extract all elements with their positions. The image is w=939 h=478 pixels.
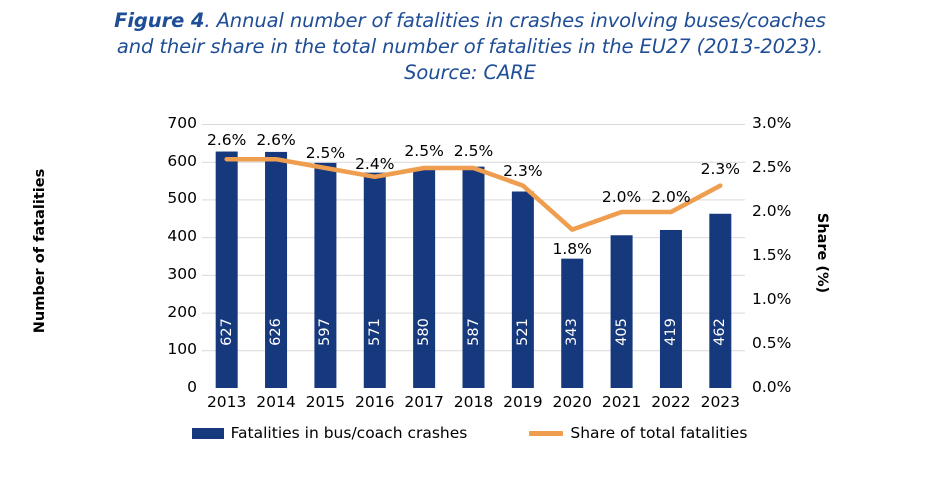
bar-value-label: 419 <box>663 318 679 346</box>
chart-legend: Fatalities in bus/coach crashes Share of… <box>0 424 939 442</box>
bar-value-label: 521 <box>515 318 531 346</box>
share-value-label: 2.6% <box>207 131 246 149</box>
x-axis-tick-label: 2015 <box>306 393 345 411</box>
chart-canvas: Number of fatalities Share (%) 010020030… <box>0 95 939 415</box>
share-value-label: 2.4% <box>355 155 394 173</box>
y-axis-title-right: Share (%) <box>814 153 830 353</box>
y-axis-left-tick-label: 400 <box>167 227 197 245</box>
y-axis-right-tick-label: 2.5% <box>752 158 791 176</box>
x-axis-tick-label: 2022 <box>651 393 690 411</box>
bar-value-label: 627 <box>219 318 235 346</box>
share-value-label: 2.5% <box>454 142 493 160</box>
figure-title-text: . Annual number of fatalities in crashes… <box>117 9 826 84</box>
bar[interactable] <box>709 214 731 388</box>
bar-value-label: 462 <box>712 318 728 346</box>
legend-line-label: Share of total fatalities <box>570 424 747 442</box>
x-axis-tick-label: 2017 <box>404 393 443 411</box>
bar[interactable] <box>611 235 633 388</box>
bar-value-label: 597 <box>317 318 333 346</box>
bar[interactable] <box>660 230 682 388</box>
bar-value-label: 343 <box>564 318 580 346</box>
y-axis-right-tick-label: 0.0% <box>752 378 791 396</box>
bar-value-label: 587 <box>466 318 482 346</box>
x-axis-tick-label: 2013 <box>207 393 246 411</box>
x-axis-tick-label: 2020 <box>552 393 591 411</box>
legend-item-bars[interactable]: Fatalities in bus/coach crashes <box>192 424 468 442</box>
x-axis-tick-label: 2023 <box>701 393 740 411</box>
y-axis-left-tick-label: 200 <box>167 303 197 321</box>
figure-title: Figure 4. Annual number of fatalities in… <box>110 8 830 86</box>
legend-item-line[interactable]: Share of total fatalities <box>529 424 747 442</box>
share-value-label: 1.8% <box>553 240 592 258</box>
share-value-label: 2.3% <box>701 160 740 178</box>
x-axis-tick-label: 2021 <box>602 393 641 411</box>
y-axis-left-tick-label: 0 <box>187 378 197 396</box>
bar-value-label: 580 <box>416 318 432 346</box>
share-value-label: 2.0% <box>602 188 641 206</box>
y-axis-right-tick-label: 1.0% <box>752 290 791 308</box>
x-axis-tick-label: 2019 <box>503 393 542 411</box>
x-axis-tick-label: 2018 <box>454 393 493 411</box>
bar-value-label: 626 <box>268 318 284 346</box>
bar[interactable] <box>265 152 287 388</box>
bar[interactable] <box>364 173 386 388</box>
legend-line-swatch-icon <box>529 431 563 436</box>
legend-bar-swatch-icon <box>192 428 224 439</box>
bar[interactable] <box>463 167 485 388</box>
bar[interactable] <box>512 192 534 388</box>
x-axis-tick-label: 2016 <box>355 393 394 411</box>
share-value-label: 2.5% <box>306 144 345 162</box>
y-axis-title-left: Number of fatalities <box>32 141 48 361</box>
chart-svg <box>202 124 745 388</box>
y-axis-right-tick-label: 3.0% <box>752 114 791 132</box>
y-axis-right-tick-label: 1.5% <box>752 246 791 264</box>
x-axis-tick-label: 2014 <box>256 393 295 411</box>
y-axis-left-tick-label: 600 <box>167 152 197 170</box>
legend-bar-label: Fatalities in bus/coach crashes <box>231 424 468 442</box>
bar[interactable] <box>216 152 238 388</box>
bar-value-label: 571 <box>367 318 383 346</box>
plot-area: 6276265975715805875213434054194622.6%2.6… <box>202 124 745 388</box>
bar-value-label: 405 <box>614 318 630 346</box>
y-axis-left-tick-label: 300 <box>167 265 197 283</box>
y-axis-right-tick-label: 2.0% <box>752 202 791 220</box>
y-axis-left-tick-label: 500 <box>167 189 197 207</box>
y-axis-left-tick-label: 100 <box>167 340 197 358</box>
share-value-label: 2.3% <box>503 162 542 180</box>
share-value-label: 2.6% <box>256 131 295 149</box>
bar[interactable] <box>413 169 435 388</box>
x-axis-ticks: 2013201420152016201720182019202020212022… <box>202 393 745 419</box>
bar[interactable] <box>314 163 336 388</box>
y-axis-left-ticks: 0100200300400500600700 <box>155 95 197 415</box>
y-axis-right-tick-label: 0.5% <box>752 334 791 352</box>
y-axis-right-ticks: 0.0%0.5%1.0%1.5%2.0%2.5%3.0% <box>752 95 812 415</box>
share-value-label: 2.0% <box>651 188 690 206</box>
share-value-label: 2.5% <box>404 142 443 160</box>
y-axis-left-tick-label: 700 <box>167 114 197 132</box>
figure-number: Figure 4 <box>114 9 204 32</box>
